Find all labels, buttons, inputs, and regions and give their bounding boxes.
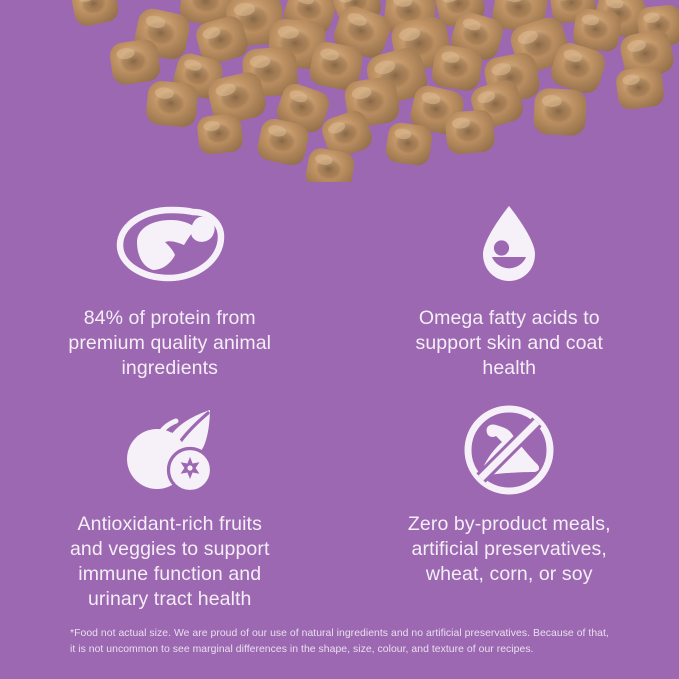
kibble-piece <box>444 109 495 155</box>
fruits-and-veggies-icon <box>122 402 218 498</box>
benefit-item-protein: 84% of protein from premium quality anim… <box>0 182 340 384</box>
kibble-piece <box>384 121 433 167</box>
oil-droplet-smile-icon <box>479 196 539 292</box>
benefit-text-omega: Omega fatty acids to support skin and co… <box>416 306 603 381</box>
kibble-piece <box>533 88 587 137</box>
benefit-item-no-byproducts: Zero by-product meals, artificial preser… <box>340 384 679 612</box>
kibble-piece <box>108 38 161 86</box>
no-by-product-meal-icon <box>463 402 555 498</box>
kibble-piece <box>430 44 484 93</box>
benefit-item-omega: Omega fatty acids to support skin and co… <box>340 182 679 384</box>
kibble-piece <box>145 80 199 128</box>
product-benefits-panel: 84% of protein from premium quality anim… <box>0 0 679 679</box>
meat-cut-icon <box>113 196 227 292</box>
kibble-piece <box>615 65 666 110</box>
benefit-text-antioxidants: Antioxidant-rich fruits and veggies to s… <box>70 512 270 612</box>
benefit-text-protein: 84% of protein from premium quality anim… <box>68 306 271 381</box>
kibble-illustration <box>0 0 679 182</box>
benefit-text-no-byproducts: Zero by-product meals, artificial preser… <box>408 512 611 587</box>
kibble-hero-image <box>0 0 679 182</box>
footnote-disclaimer: *Food not actual size. We are proud of o… <box>70 626 615 658</box>
benefits-grid: 84% of protein from premium quality anim… <box>0 182 679 612</box>
kibble-piece <box>196 113 244 155</box>
benefit-item-antioxidants: Antioxidant-rich fruits and veggies to s… <box>0 384 340 612</box>
